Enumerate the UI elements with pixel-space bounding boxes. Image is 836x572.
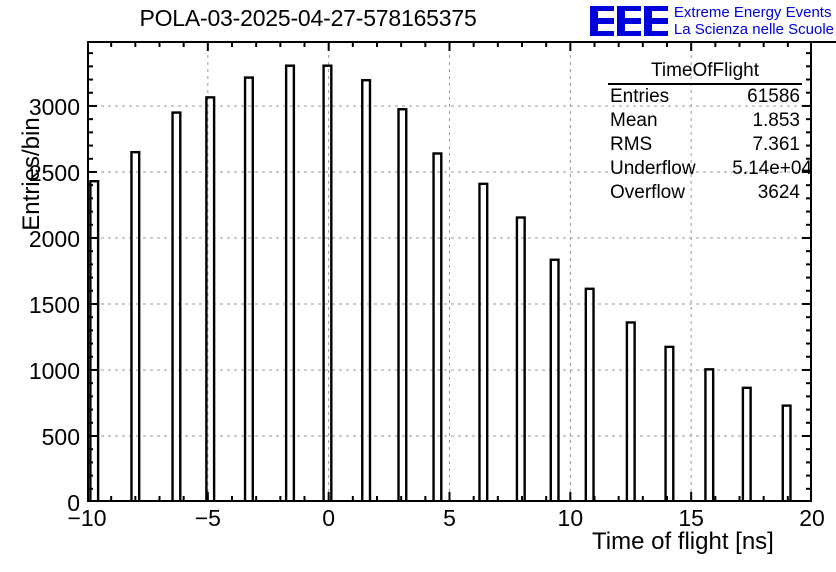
eee-logo: Extreme Energy Events La Scienza nelle S… (590, 2, 834, 40)
stats-row-key: Mean (610, 109, 658, 133)
stats-row-value: 61586 (747, 85, 800, 109)
y-axis-tick-labels: 050010001500200025003000 (8, 41, 80, 502)
y-tick-label: 1000 (10, 358, 80, 385)
eee-letter-icon (590, 6, 614, 36)
stats-row-value: 5.14e+04 (732, 157, 812, 181)
x-tick-label: 20 (777, 505, 836, 532)
x-tick-label: −10 (52, 505, 122, 532)
x-tick-label: 5 (415, 505, 485, 532)
stats-row-value: 1.853 (752, 109, 800, 133)
root-canvas: POLA-03-2025-04-27-578165375 Extreme Ene… (0, 0, 836, 572)
stats-row-key: Underflow (610, 157, 696, 181)
y-tick-label: 3000 (10, 94, 80, 121)
x-tick-label: 15 (656, 505, 726, 532)
x-tick-label: 10 (535, 505, 605, 532)
eee-letter-icon (617, 6, 641, 36)
eee-logo-text: Extreme Energy Events La Scienza nelle S… (674, 4, 834, 38)
eee-logo-line2: La Scienza nelle Scuole (674, 21, 834, 38)
stats-row-value: 3624 (758, 181, 800, 205)
stats-row: Mean1.853 (608, 109, 802, 133)
y-tick-label: 1500 (10, 292, 80, 319)
eee-mark-icon (590, 6, 668, 36)
y-tick-label: 500 (10, 424, 80, 451)
x-axis-tick-labels: −10−505101520 (87, 505, 812, 535)
eee-letter-icon (644, 6, 668, 36)
x-tick-label: −5 (173, 505, 243, 532)
page-title: POLA-03-2025-04-27-578165375 (88, 5, 528, 32)
stats-box-title: TimeOfFlight (608, 60, 802, 85)
stats-row-key: Entries (610, 85, 669, 109)
stats-row: Underflow5.14e+04 (608, 157, 802, 181)
stats-row-key: Overflow (610, 181, 685, 205)
stats-box: TimeOfFlight Entries61586Mean1.853RMS7.3… (608, 60, 802, 205)
x-tick-label: 0 (294, 505, 364, 532)
y-tick-label: 2000 (10, 226, 80, 253)
stats-row-value: 7.361 (752, 133, 800, 157)
stats-row: RMS7.361 (608, 133, 802, 157)
stats-row: Overflow3624 (608, 181, 802, 205)
stats-box-rows: Entries61586Mean1.853RMS7.361Underflow5.… (608, 85, 802, 205)
stats-row: Entries61586 (608, 85, 802, 109)
eee-logo-line1: Extreme Energy Events (674, 4, 834, 21)
y-tick-label: 2500 (10, 160, 80, 187)
stats-row-key: RMS (610, 133, 652, 157)
